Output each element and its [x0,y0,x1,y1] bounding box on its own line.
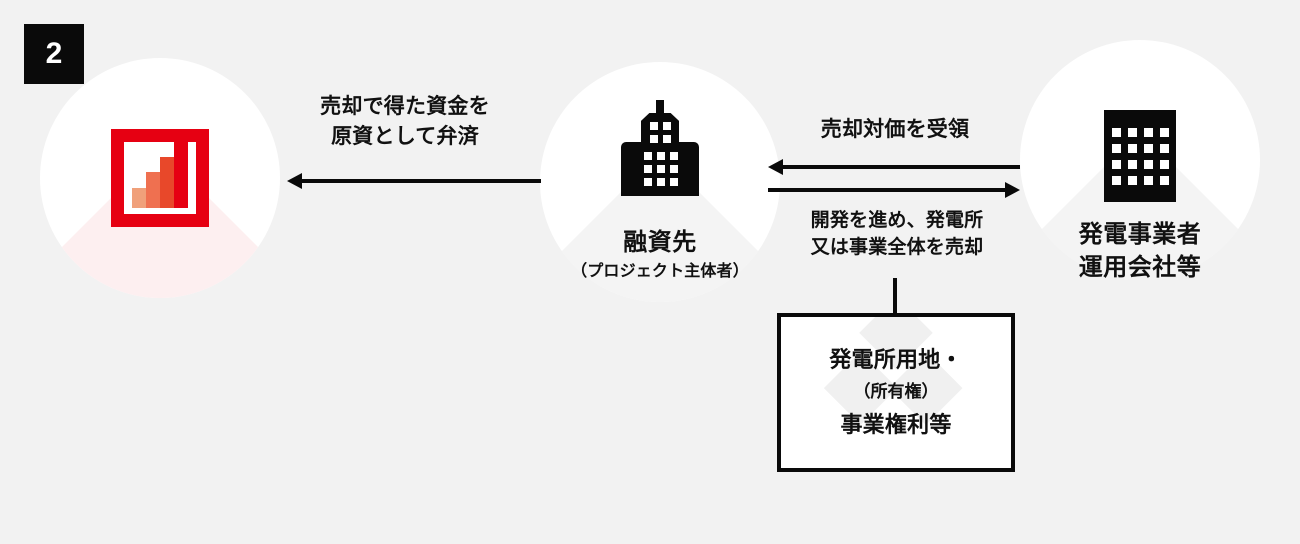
asset-box-line2: （所有権） [854,381,939,403]
node-borrower-asset [40,58,280,298]
asset-box-line1: 発電所用地・ [829,346,962,375]
office-building-icon-wrap [1020,110,1260,202]
building-windows-upper [650,122,671,143]
bar-chart-icon-wrap [40,129,280,227]
flow-arrow-sale-proceeds [768,159,1020,175]
caption-main: 融資先 [510,228,810,259]
chart-bar [160,157,174,208]
caption-main-line2: 運用会社等 [990,253,1290,284]
office-windows [1112,128,1169,185]
office-building-icon [1104,110,1176,202]
flow-arrow-repayment [287,173,541,189]
skyscraper-icon-wrap [540,100,780,196]
skyscraper-icon [621,100,699,196]
flow-label-sale-proceeds: 売却対価を受領 [775,115,1015,145]
arrow-head [1005,182,1020,198]
chart-bar [174,142,188,208]
chart-bar [146,172,160,208]
flow-label-development-and-sale: 開発を進め、発電所 又は事業全体を売却 [778,208,1016,261]
caption-main-line1: 発電事業者 [990,220,1290,251]
building-windows-lower [644,152,678,186]
asset-box-content: 発電所用地・ （所有権） 事業権利等 [781,317,1011,468]
flow-label-repayment: 売却で得た資金を 原資として弁済 [270,92,540,152]
asset-box-connector [893,278,897,315]
caption-sub: （プロジェクト主体者） [510,262,810,282]
chart-bar [132,188,146,208]
arrow-shaft [300,179,541,183]
caption-lender-recipient: 融資先 （プロジェクト主体者） [510,228,810,282]
bar-chart-plot [124,142,196,214]
caption-power-producer: 発電事業者 運用会社等 [990,220,1290,283]
diagram-canvas: 2 [0,0,1300,544]
flow-arrow-development-and-sale [768,182,1020,198]
asset-box-line3: 事業権利等 [840,411,951,440]
arrow-shaft [768,188,1007,192]
arrow-shaft [781,165,1020,169]
bar-chart-icon [111,129,209,227]
asset-box: 発電所用地・ （所有権） 事業権利等 [777,313,1015,472]
